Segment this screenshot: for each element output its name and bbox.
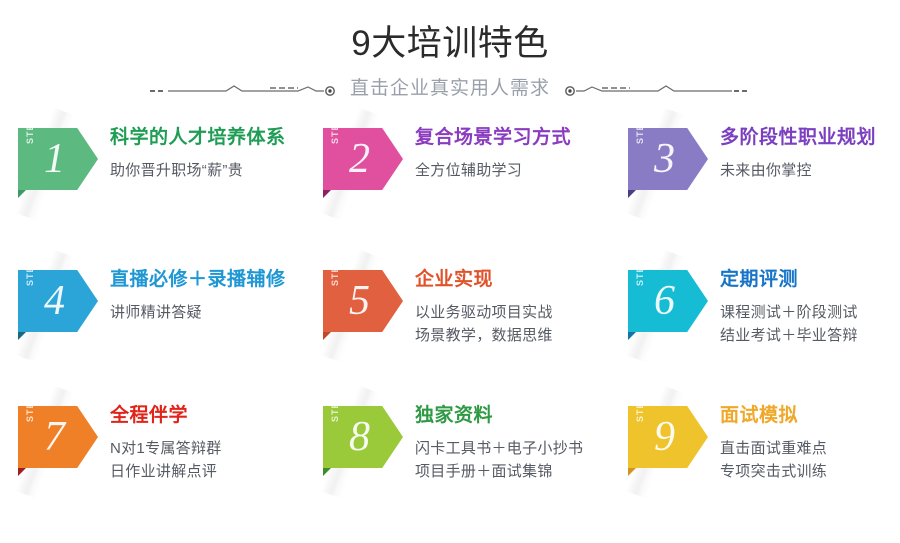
step-badge: STEP 6 <box>628 270 714 350</box>
description-line: N对1专属答辩群 <box>110 437 310 460</box>
card-text: 全程伴学 N对1专属答辩群日作业讲解点评 <box>110 402 310 483</box>
feature-row: STEP 1 科学的人才培养体系 助你晋升职场“薪”贵 STEP 2 <box>0 122 900 257</box>
badge-step-label: STEP <box>330 258 340 286</box>
card-text: 定期评测 课程测试＋阶段测试结业考试＋毕业答辩 <box>720 266 900 347</box>
right-ornament-icon <box>562 76 752 102</box>
feature-card-7[interactable]: STEP 7 全程伴学 N对1专属答辩群日作业讲解点评 <box>10 400 310 532</box>
card-description: 未来由你掌控 <box>720 159 900 182</box>
card-title: 独家资料 <box>415 402 615 430</box>
card-description: 直击面试重难点专项突击式训练 <box>720 437 900 483</box>
description-line: 闪卡工具书＋电子小抄书 <box>415 437 615 460</box>
description-line: 全方位辅助学习 <box>415 159 615 182</box>
feature-card-4[interactable]: STEP 4 直播必修＋录播辅修 讲师精讲答疑 <box>10 264 310 396</box>
step-badge: STEP 3 <box>628 128 714 208</box>
description-line: 未来由你掌控 <box>720 159 900 182</box>
feature-card-3[interactable]: STEP 3 多阶段性职业规划 未来由你掌控 <box>620 122 900 254</box>
feature-card-5[interactable]: STEP 5 企业实现 以业务驱动项目实战场景教学，数据思维 <box>315 264 615 396</box>
badge-number: 6 <box>654 272 675 330</box>
badge-step-label: STEP <box>635 258 645 286</box>
card-text: 独家资料 闪卡工具书＋电子小抄书项目手册＋面试集锦 <box>415 402 615 483</box>
badge-number: 4 <box>44 272 65 330</box>
card-title: 企业实现 <box>415 266 615 294</box>
badge-body: STEP 8 <box>323 406 403 468</box>
card-text: 科学的人才培养体系 助你晋升职场“薪”贵 <box>110 124 310 182</box>
card-description: N对1专属答辩群日作业讲解点评 <box>110 437 310 483</box>
card-description: 闪卡工具书＋电子小抄书项目手册＋面试集锦 <box>415 437 615 483</box>
card-title: 多阶段性职业规划 <box>720 124 900 152</box>
badge-step-label: STEP <box>25 116 35 144</box>
card-title: 科学的人才培养体系 <box>110 124 310 152</box>
description-line: 直击面试重难点 <box>720 437 900 460</box>
badge-body: STEP 6 <box>628 270 708 332</box>
step-badge: STEP 2 <box>323 128 409 208</box>
badge-step-label: STEP <box>25 258 35 286</box>
card-title: 定期评测 <box>720 266 900 294</box>
badge-body: STEP 1 <box>18 128 98 190</box>
left-ornament-icon <box>148 76 338 102</box>
card-description: 助你晋升职场“薪”贵 <box>110 159 310 182</box>
step-badge: STEP 1 <box>18 128 104 208</box>
feature-row: STEP 4 直播必修＋录播辅修 讲师精讲答疑 STEP 5 <box>0 264 900 399</box>
subtitle-row: 直击企业真实用人需求 <box>0 74 900 104</box>
badge-number: 1 <box>44 130 65 188</box>
card-text: 多阶段性职业规划 未来由你掌控 <box>720 124 900 182</box>
badge-number: 2 <box>349 130 370 188</box>
page-header: 9大培训特色 直击企业真实用人需求 <box>0 0 900 118</box>
card-description: 以业务驱动项目实战场景教学，数据思维 <box>415 301 615 347</box>
description-line: 结业考试＋毕业答辩 <box>720 324 900 347</box>
description-line: 项目手册＋面试集锦 <box>415 460 615 483</box>
card-text: 企业实现 以业务驱动项目实战场景教学，数据思维 <box>415 266 615 347</box>
card-description: 讲师精讲答疑 <box>110 301 310 324</box>
step-badge: STEP 4 <box>18 270 104 350</box>
card-title: 面试模拟 <box>720 402 900 430</box>
step-badge: STEP 8 <box>323 406 409 486</box>
badge-body: STEP 2 <box>323 128 403 190</box>
feature-card-9[interactable]: STEP 9 面试模拟 直击面试重难点专项突击式训练 <box>620 400 900 532</box>
card-title: 复合场景学习方式 <box>415 124 615 152</box>
step-badge: STEP 5 <box>323 270 409 350</box>
page-subtitle: 直击企业真实用人需求 <box>338 76 562 102</box>
card-text: 直播必修＋录播辅修 讲师精讲答疑 <box>110 266 310 324</box>
description-line: 专项突击式训练 <box>720 460 900 483</box>
feature-row: STEP 7 全程伴学 N对1专属答辩群日作业讲解点评 STEP 8 <box>0 400 900 535</box>
feature-highlights-page: 9大培训特色 直击企业真实用人需求 <box>0 0 900 543</box>
card-title: 直播必修＋录播辅修 <box>110 266 310 294</box>
badge-step-label: STEP <box>330 116 340 144</box>
description-line: 日作业讲解点评 <box>110 460 310 483</box>
card-text: 复合场景学习方式 全方位辅助学习 <box>415 124 615 182</box>
feature-card-2[interactable]: STEP 2 复合场景学习方式 全方位辅助学习 <box>315 122 615 254</box>
badge-step-label: STEP <box>635 116 645 144</box>
step-badge: STEP 7 <box>18 406 104 486</box>
badge-number: 3 <box>654 130 675 188</box>
feature-card-1[interactable]: STEP 1 科学的人才培养体系 助你晋升职场“薪”贵 <box>10 122 310 254</box>
card-title: 全程伴学 <box>110 402 310 430</box>
feature-grid: STEP 1 科学的人才培养体系 助你晋升职场“薪”贵 STEP 2 <box>0 118 900 543</box>
badge-number: 7 <box>44 408 65 466</box>
feature-card-6[interactable]: STEP 6 定期评测 课程测试＋阶段测试结业考试＋毕业答辩 <box>620 264 900 396</box>
badge-number: 8 <box>349 408 370 466</box>
card-description: 课程测试＋阶段测试结业考试＋毕业答辩 <box>720 301 900 347</box>
page-title: 9大培训特色 <box>0 22 900 66</box>
description-line: 助你晋升职场“薪”贵 <box>110 159 310 182</box>
badge-body: STEP 3 <box>628 128 708 190</box>
badge-number: 9 <box>654 408 675 466</box>
badge-body: STEP 4 <box>18 270 98 332</box>
card-text: 面试模拟 直击面试重难点专项突击式训练 <box>720 402 900 483</box>
description-line: 场景教学，数据思维 <box>415 324 615 347</box>
feature-card-8[interactable]: STEP 8 独家资料 闪卡工具书＋电子小抄书项目手册＋面试集锦 <box>315 400 615 532</box>
badge-body: STEP 7 <box>18 406 98 468</box>
badge-number: 5 <box>349 272 370 330</box>
description-line: 以业务驱动项目实战 <box>415 301 615 324</box>
badge-body: STEP 5 <box>323 270 403 332</box>
step-badge: STEP 9 <box>628 406 714 486</box>
description-line: 课程测试＋阶段测试 <box>720 301 900 324</box>
card-description: 全方位辅助学习 <box>415 159 615 182</box>
description-line: 讲师精讲答疑 <box>110 301 310 324</box>
badge-body: STEP 9 <box>628 406 708 468</box>
